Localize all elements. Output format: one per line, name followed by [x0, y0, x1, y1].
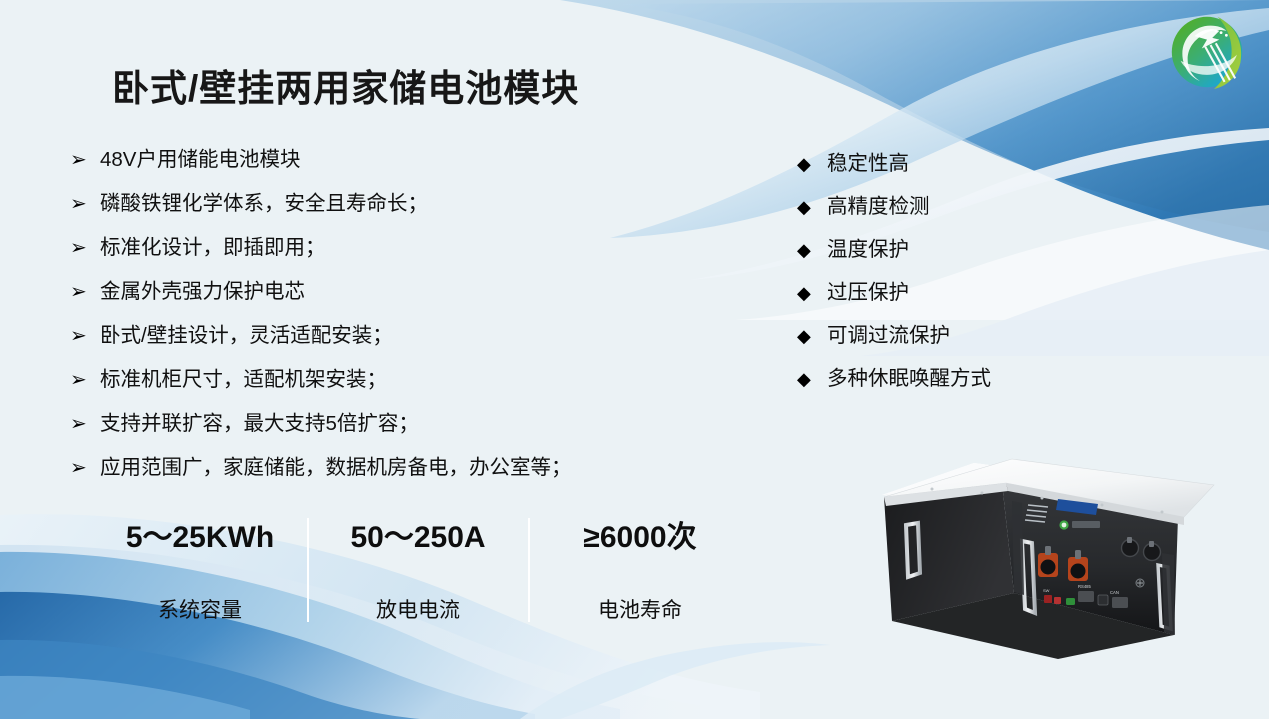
list-item-label: 磷酸铁锂化学体系，安全且寿命长； [100, 192, 428, 217]
list-item-label: 标准化设计，即插即用； [100, 236, 326, 261]
list-item: ➢ 应用范围广，家庭储能，数据机房备电，办公室等； [70, 456, 720, 500]
arrow-bullet-icon: ➢ [70, 150, 100, 170]
spec-label: 放电电流 [318, 594, 518, 624]
list-item: ➢ 48V户用储能电池模块 [70, 148, 720, 192]
arrow-bullet-icon: ➢ [70, 458, 100, 478]
spec-divider [528, 518, 530, 622]
list-item-label: 可调过流保护 [827, 324, 950, 349]
spec-divider [307, 518, 309, 622]
spec-item-cycle-life: ≥6000次 电池寿命 [540, 512, 740, 624]
company-logo [1163, 8, 1251, 96]
right-feature-list: ◆ 稳定性高 ◆ 高精度检测 ◆ 温度保护 ◆ 过压保护 ◆ 可调过流保护 ◆ … [797, 152, 1097, 410]
battery-module-photo: RS485 CAN SW [862, 445, 1244, 670]
arrow-bullet-icon: ➢ [70, 326, 100, 346]
list-item: ◆ 稳定性高 [797, 152, 1097, 195]
spec-value: ≥6000次 [540, 512, 740, 556]
list-item-label: 多种休眠唤醒方式 [827, 367, 991, 392]
arrow-bullet-icon: ➢ [70, 414, 100, 434]
list-item: ➢ 支持并联扩容，最大支持5倍扩容； [70, 412, 720, 456]
spec-item-current: 50～250A 放电电流 [318, 512, 518, 624]
list-item: ◆ 可调过流保护 [797, 324, 1097, 367]
left-feature-list: ➢ 48V户用储能电池模块 ➢ 磷酸铁锂化学体系，安全且寿命长； ➢ 标准化设计… [70, 148, 720, 500]
list-item-label: 金属外壳强力保护电芯 [100, 280, 305, 305]
list-item: ◆ 多种休眠唤醒方式 [797, 367, 1097, 410]
list-item: ➢ 标准机柜尺寸，适配机架安装； [70, 368, 720, 412]
list-item-label: 卧式/壁挂设计，灵活适配安装； [100, 324, 393, 349]
diamond-bullet-icon: ◆ [797, 241, 827, 259]
diamond-bullet-icon: ◆ [797, 370, 827, 388]
list-item: ➢ 金属外壳强力保护电芯 [70, 280, 720, 324]
spec-value: 50～250A [318, 512, 518, 556]
diamond-bullet-icon: ◆ [797, 155, 827, 173]
list-item: ➢ 磷酸铁锂化学体系，安全且寿命长； [70, 192, 720, 236]
spec-label: 电池寿命 [540, 594, 740, 624]
arrow-bullet-icon: ➢ [70, 194, 100, 214]
svg-text:RS485: RS485 [1078, 584, 1091, 589]
diamond-bullet-icon: ◆ [797, 327, 827, 345]
list-item-label: 稳定性高 [827, 152, 909, 177]
list-item: ➢ 标准化设计，即插即用； [70, 236, 720, 280]
list-item-label: 高精度检测 [827, 195, 930, 220]
diamond-bullet-icon: ◆ [797, 284, 827, 302]
svg-text:SW: SW [1043, 588, 1050, 593]
arrow-bullet-icon: ➢ [70, 282, 100, 302]
list-item-label: 48V户用储能电池模块 [100, 148, 300, 173]
spec-label: 系统容量 [100, 594, 300, 624]
arrow-bullet-icon: ➢ [70, 238, 100, 258]
list-item-label: 支持并联扩容，最大支持5倍扩容； [100, 412, 419, 437]
list-item: ◆ 高精度检测 [797, 195, 1097, 238]
list-item-label: 标准机柜尺寸，适配机架安装； [100, 368, 387, 393]
list-item-label: 温度保护 [827, 238, 909, 263]
slide-canvas: 卧式/壁挂两用家储电池模块 ➢ 48V户用储能电池模块 ➢ 磷酸铁锂化学体系，安… [0, 0, 1269, 719]
slide-title: 卧式/壁挂两用家储电池模块 [112, 58, 579, 112]
list-item-label: 过压保护 [827, 281, 909, 306]
list-item: ◆ 温度保护 [797, 238, 1097, 281]
spec-highlights: 5～25KWh 系统容量 50～250A 放电电流 ≥6000次 电池寿命 [100, 512, 750, 627]
spec-value: 5～25KWh [100, 512, 300, 556]
svg-text:CAN: CAN [1110, 590, 1119, 595]
spec-item-capacity: 5～25KWh 系统容量 [100, 512, 300, 624]
diamond-bullet-icon: ◆ [797, 198, 827, 216]
list-item: ◆ 过压保护 [797, 281, 1097, 324]
arrow-bullet-icon: ➢ [70, 370, 100, 390]
list-item: ➢ 卧式/壁挂设计，灵活适配安装； [70, 324, 720, 368]
list-item-label: 应用范围广，家庭储能，数据机房备电，办公室等； [100, 456, 572, 481]
